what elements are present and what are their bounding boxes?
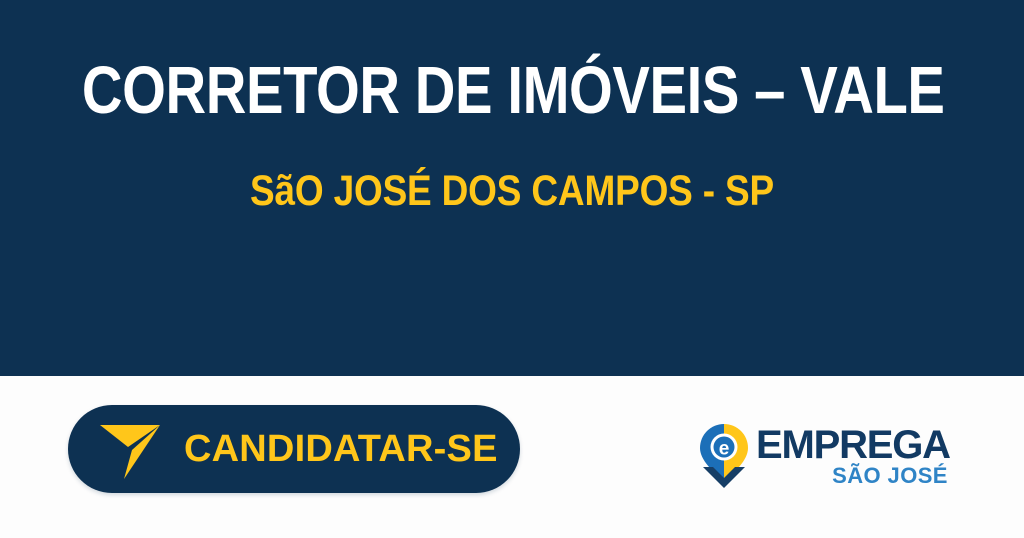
- emprega-sao-jose-logo[interactable]: e EMPREGA SÃO JOSÉ: [699, 420, 909, 492]
- svg-text:e: e: [719, 439, 730, 460]
- job-posting-card: CORRETOR DE IMÓVEIS – VALE SãO JOSÉ DOS …: [0, 0, 1024, 538]
- send-paper-plane-icon: [98, 417, 162, 481]
- apply-button-label: CANDIDATAR-SE: [184, 429, 498, 469]
- map-pin-e-icon: e: [699, 423, 749, 489]
- apply-button[interactable]: CANDIDATAR-SE: [68, 405, 520, 493]
- footer-band: CANDIDATAR-SE e EMPREGA SÃO JOSÉ: [0, 376, 1024, 538]
- header-band: CORRETOR DE IMÓVEIS – VALE SãO JOSÉ DOS …: [0, 0, 1024, 376]
- brand-subtitle: SÃO JOSÉ: [832, 465, 948, 487]
- job-location: SãO JOSÉ DOS CAMPOS - SP: [72, 168, 953, 214]
- job-title: CORRETOR DE IMÓVEIS – VALE: [82, 56, 942, 126]
- brand-name: EMPREGA: [756, 426, 950, 464]
- brand-wordmark: EMPREGA SÃO JOSÉ: [756, 426, 950, 487]
